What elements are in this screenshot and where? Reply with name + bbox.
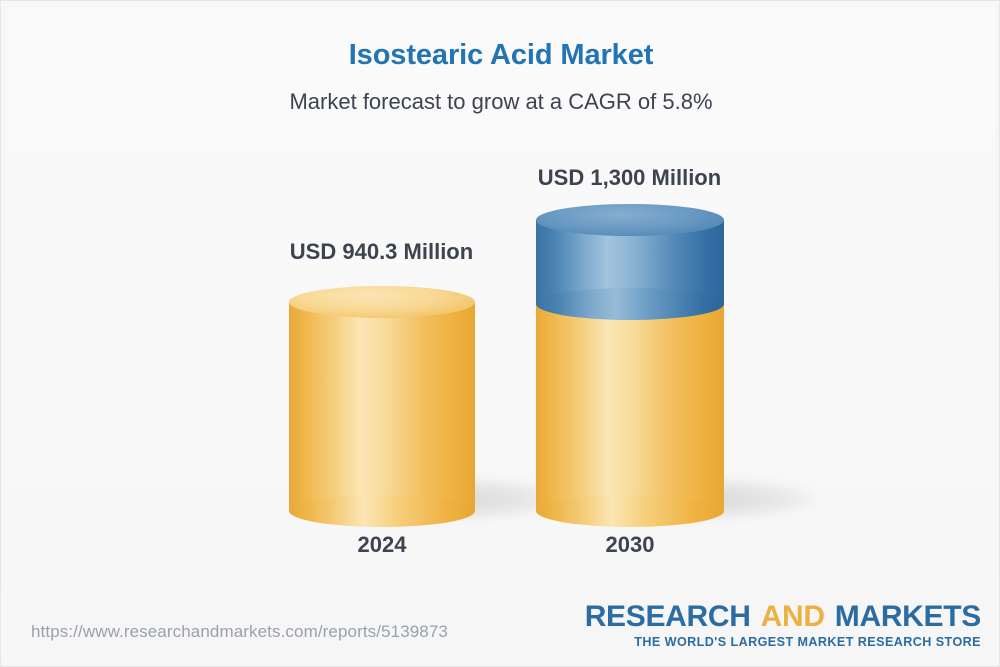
brand-logo[interactable]: RESEARCHANDMARKETS THE WORLD'S LARGEST M… [585, 602, 981, 649]
bar-top-cap-2024 [289, 286, 475, 318]
brand-wordmark: RESEARCHANDMARKETS [585, 602, 981, 632]
bar-value-label-2030: USD 1,300 Million [467, 165, 792, 191]
page-title: Isostearic Acid Market [1, 39, 1000, 72]
brand-word-research: RESEARCH [585, 600, 751, 633]
brand-word-and: AND [761, 600, 825, 633]
brand-tagline: THE WORLD'S LARGEST MARKET RESEARCH STOR… [585, 635, 981, 649]
bar-body [289, 302, 475, 511]
category-label-2024: 2024 [289, 532, 475, 558]
bar-value-label-2024: USD 940.3 Million [219, 239, 544, 265]
chart-subtitle: Market forecast to grow at a CAGR of 5.8… [1, 89, 1000, 115]
bar-segment-base-2024 [289, 302, 475, 511]
bar-bottom-cap [536, 288, 724, 320]
infographic-card: Isostearic Acid Market Market forecast t… [0, 0, 1000, 667]
bar-bottom-cap [536, 495, 724, 527]
brand-word-markets: MARKETS [835, 600, 981, 633]
report-url[interactable]: https://www.researchandmarkets.com/repor… [31, 622, 448, 642]
bar-bottom-cap [289, 495, 475, 527]
bar-segment-base-2030 [536, 304, 724, 511]
category-label-2030: 2030 [536, 532, 724, 558]
bar-body [536, 304, 724, 511]
bar-top-cap-2030 [536, 204, 724, 236]
